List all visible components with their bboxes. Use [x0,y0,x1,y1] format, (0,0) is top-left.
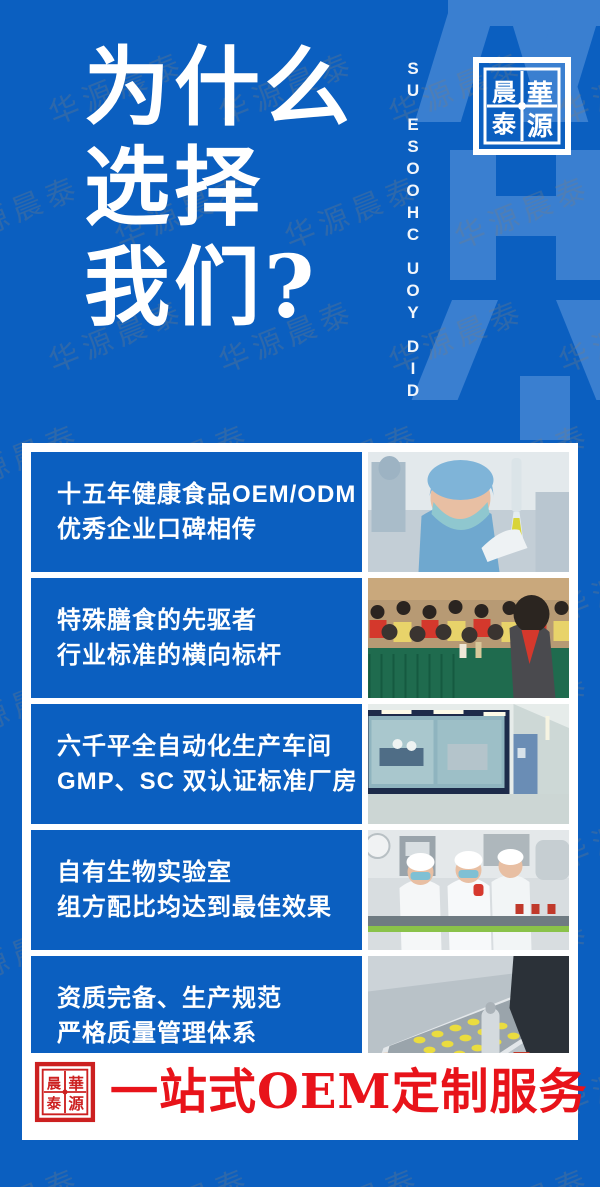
watermark-text: 华源晨泰 [0,1155,87,1187]
footer-seal-char-top-right: 華 [68,1074,84,1093]
feature-line-2: GMP、SC 双认证标准厂房 [57,764,362,799]
headline-line-3: 我们? [84,238,354,338]
feature-text-block: 六千平全自动化生产车间GMP、SC 双认证标准厂房 [31,704,362,824]
feature-row: 六千平全自动化生产车间GMP、SC 双认证标准厂房 [31,704,569,824]
feature-text-block: 自有生物实验室组方配比均达到最佳效果 [31,830,362,950]
vertical-english-letter: U [407,80,419,102]
poster-root: 为什么 选择 我们? DIDYOUCHOOSEUS 華 源 晨 泰 十五年健康食… [0,0,600,1187]
watermark-text: 华源晨泰 [277,1155,427,1187]
watermark-text: 华源晨泰 [107,1155,257,1187]
feature-row: 自有生物实验室组方配比均达到最佳效果 [31,830,569,950]
company-seal-logo: 華 源 晨 泰 [472,56,572,156]
vertical-english-letter: D [407,336,419,358]
vertical-english-letter: H [407,202,419,224]
feature-row: 特殊膳食的先驱者行业标准的横向标杆 [31,578,569,698]
seal-char-bottom-right: 源 [527,112,553,142]
footer-seal-char-top-left: 晨 [47,1075,62,1093]
vertical-english-letter: O [406,158,419,180]
vertical-english-tagline: DIDYOUCHOOSEUS [398,12,428,402]
feature-line-2: 行业标准的横向标杆 [57,638,362,673]
seal-char-top-left: 晨 [492,78,517,107]
vertical-english-letter: S [407,136,418,158]
vertical-english-letter: O [406,180,419,202]
feature-rows: 十五年健康食品OEM/ODM优秀企业口碑相传 特殊膳食的先驱者行业标准的横向标杆 [31,452,569,1076]
page-title: 为什么 选择 我们? [84,38,354,338]
vertical-english-letter: Y [407,302,418,324]
feature-text-block: 十五年健康食品OEM/ODM优秀企业口碑相传 [31,452,362,572]
feature-line-1: 十五年健康食品OEM/ODM [57,477,362,512]
feature-row: 十五年健康食品OEM/ODM优秀企业口碑相传 [31,452,569,572]
footer-banner: 華 源 晨 泰 一站式OEM定制服务 [22,1053,578,1131]
vertical-english-letter: S [407,58,418,80]
headline-line-2: 选择 [84,138,354,238]
feature-photo [368,704,569,824]
feature-line-2: 优秀企业口碑相传 [57,512,362,547]
vertical-english-letter: C [407,224,419,246]
vertical-english-letter: U [407,258,419,280]
vertical-english-letter: D [407,380,419,402]
feature-photo [368,578,569,698]
header-section: 为什么 选择 我们? DIDYOUCHOOSEUS 華 源 晨 泰 [0,0,600,440]
headline-line-1: 为什么 [84,38,354,138]
feature-line-1: 特殊膳食的先驱者 [57,603,362,638]
feature-text-block: 特殊膳食的先驱者行业标准的横向标杆 [31,578,362,698]
footer-slogan: 一站式OEM定制服务 [110,1064,588,1120]
feature-photo [368,452,569,572]
feature-line-2: 严格质量管理体系 [57,1016,362,1051]
seal-char-bottom-left: 泰 [492,110,517,139]
vertical-english-letter: E [407,114,418,136]
footer-seal-char-bottom-left: 泰 [47,1094,62,1112]
seal-char-top-right: 華 [527,80,553,110]
feature-photo [368,830,569,950]
footer-seal-logo: 華 源 晨 泰 [34,1061,96,1123]
feature-line-1: 自有生物实验室 [57,855,362,890]
feature-line-1: 资质完备、生产规范 [57,981,362,1016]
features-card: 十五年健康食品OEM/ODM优秀企业口碑相传 特殊膳食的先驱者行业标准的横向标杆 [22,443,578,1140]
vertical-english-letter: I [411,358,416,380]
footer-seal-char-bottom-right: 源 [68,1094,84,1113]
feature-line-2: 组方配比均达到最佳效果 [57,890,362,925]
vertical-english-letter: O [406,280,419,302]
feature-line-1: 六千平全自动化生产车间 [57,729,362,764]
watermark-text: 华源晨泰 [447,1155,597,1187]
watermark-row: 华源晨泰华源晨泰华源晨泰华源晨泰 [0,1180,600,1187]
